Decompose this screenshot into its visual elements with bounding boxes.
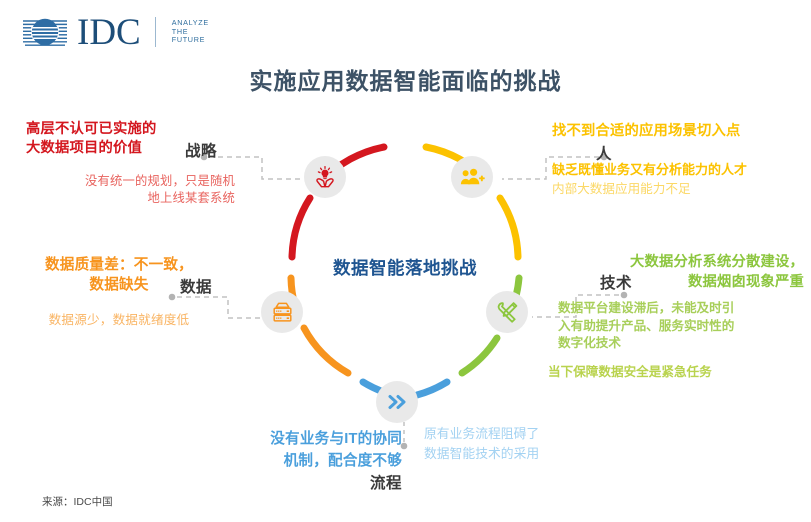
strategy-category: 战略 <box>185 139 217 161</box>
block-process: 没有业务与IT的协同 机制，配合度不够 流程 <box>222 428 402 493</box>
node-strategy[interactable] <box>304 156 346 198</box>
hands-lightbulb-icon <box>313 165 337 189</box>
tech-category: 技术 <box>600 271 632 293</box>
process-detail-line-2: 数据智能技术的采用 <box>424 444 599 464</box>
block-people: 找不到合适的应用场景切入点 人 缺乏既懂业务又有分析能力的人才 内部大数据应用能… <box>552 122 802 198</box>
data-headline-line-1: 数据质量差：不一致， <box>8 255 230 275</box>
block-data: 数据质量差：不一致， 数据缺失 数据 数据源少，数据就绪度低 <box>8 255 230 329</box>
node-tech[interactable] <box>486 291 528 333</box>
process-category-row: 流程 <box>222 471 402 493</box>
people-headline: 找不到合适的应用场景切入点 <box>552 122 802 141</box>
idc-tagline: ANALYZE THE FUTURE <box>172 19 209 45</box>
people-detail-line-1: 缺乏既懂业务又有分析能力的人才 <box>552 161 802 179</box>
tagline-line-3: FUTURE <box>172 36 209 45</box>
diagram-center-label: 数据智能落地挑战 <box>270 255 540 280</box>
strategy-detail-line-1: 没有统一的规划，只是随机 <box>26 173 235 190</box>
process-category: 流程 <box>370 471 402 493</box>
tech-headline-line-1: 大数据分析系统分散建设， <box>548 252 804 272</box>
tech-detail-line-3: 数字化技术 <box>558 335 804 353</box>
node-data[interactable] <box>261 291 303 333</box>
strategy-detail-line-2: 地上线某套系统 <box>26 190 235 207</box>
tech-detail-line-2: 入有助提升产品、服务实时性的 <box>558 318 804 336</box>
tech-detail-line-1: 数据平台建设滞后，未能及时引 <box>558 300 804 318</box>
process-details: 原有业务流程阻碍了 数据智能技术的采用 <box>424 424 599 464</box>
logo-divider <box>155 17 156 47</box>
node-people[interactable] <box>451 156 493 198</box>
process-headline: 没有业务与IT的协同 机制，配合度不够 <box>222 428 402 472</box>
data-detail-line-1: 数据源少，数据就绪度低 <box>8 311 230 329</box>
node-process[interactable] <box>376 381 418 423</box>
strategy-details: 没有统一的规划，只是随机 地上线某套系统 <box>26 173 241 207</box>
idc-globe-icon <box>22 12 68 52</box>
people-detail-line-2: 内部大数据应用能力不足 <box>552 180 802 198</box>
add-person-icon <box>460 166 485 188</box>
block-strategy: 高层不认可已实施的 大数据项目的价值 战略 没有统一的规划，只是随机 地上线某套… <box>26 120 241 207</box>
server-stack-icon <box>270 300 295 324</box>
page-title: 实施应用数据智能面临的挑战 <box>0 62 811 96</box>
slide-canvas: IDC ANALYZE THE FUTURE 实施应用数据智能面临的挑战 <box>0 0 811 522</box>
tech-details: 数据平台建设滞后，未能及时引 入有助提升产品、服务实时性的 数字化技术 <box>548 300 804 353</box>
wrench-screwdriver-icon <box>495 300 520 325</box>
source-note: 来源：IDC中国 <box>42 494 113 509</box>
tech-detail-line-4: 当下保障数据安全是紧急任务 <box>548 364 804 382</box>
data-category: 数据 <box>180 275 212 297</box>
idc-logo: IDC ANALYZE THE FUTURE <box>22 12 209 52</box>
process-headline-line-2: 机制，配合度不够 <box>222 450 402 472</box>
process-headline-line-1: 没有业务与IT的协同 <box>222 428 402 450</box>
double-chevron-icon <box>385 392 409 412</box>
idc-wordmark: IDC <box>77 14 141 51</box>
strategy-headline-line-1: 高层不认可已实施的 <box>26 120 241 139</box>
block-tech: 大数据分析系统分散建设， 数据烟囱现象严重 技术 数据平台建设滞后，未能及时引 … <box>548 252 804 381</box>
process-detail-line-1: 原有业务流程阻碍了 <box>424 424 599 444</box>
